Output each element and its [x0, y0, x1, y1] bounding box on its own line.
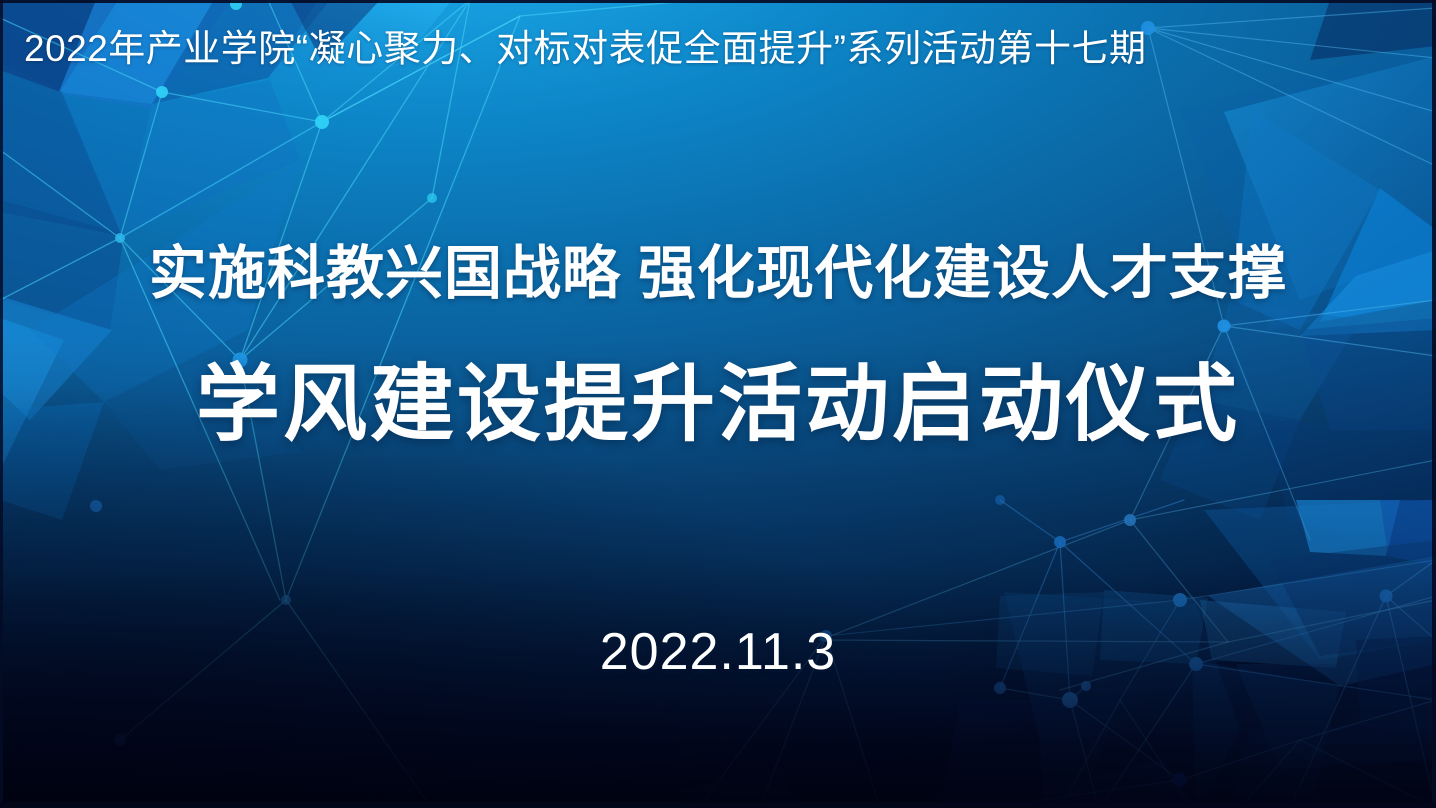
slide-date-text: 2022.11.3	[0, 620, 1436, 684]
slide-title-line-2: 学风建设提升活动启动仪式	[0, 352, 1436, 456]
slide-title-line-1: 实施科教兴国战略 强化现代化建设人才支撑	[0, 238, 1436, 310]
presentation-slide: 2022年产业学院“凝心聚力、对标对表促全面提升”系列活动第十七期 实施科教兴国…	[0, 0, 1436, 808]
slide-header-text: 2022年产业学院“凝心聚力、对标对表促全面提升”系列活动第十七期	[24, 26, 1146, 72]
slide-title-block: 实施科教兴国战略 强化现代化建设人才支撑 学风建设提升活动启动仪式	[0, 238, 1436, 456]
